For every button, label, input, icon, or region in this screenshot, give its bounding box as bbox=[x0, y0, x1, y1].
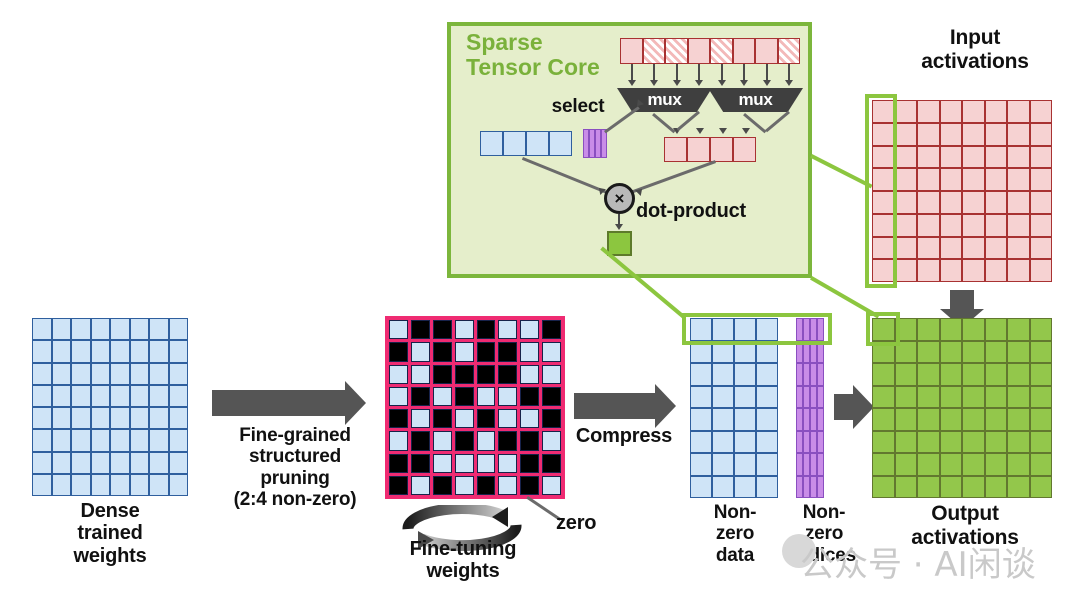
pruned-weight-cell bbox=[411, 476, 430, 495]
pruned-weight-cell bbox=[542, 431, 561, 450]
pruned-weight-cell bbox=[389, 431, 408, 450]
dense-weight-cell bbox=[169, 474, 189, 496]
pruned-zero-cell bbox=[520, 431, 539, 450]
pruned-zero-cell bbox=[542, 320, 561, 339]
pruned-zero-cell bbox=[411, 320, 430, 339]
output-activation-cell bbox=[985, 476, 1008, 499]
nonzero-index-cell bbox=[803, 386, 810, 409]
nonzero-data-cell bbox=[690, 476, 712, 499]
nonzero-index-cell bbox=[817, 453, 824, 476]
input-act-label-line-2: activations bbox=[880, 50, 1070, 74]
input-activation-cell bbox=[917, 100, 940, 123]
input-activation-cell bbox=[962, 123, 985, 146]
pruned-weight-cell bbox=[498, 320, 517, 339]
prune-label-line-4: (2:4 non-zero) bbox=[202, 489, 388, 510]
input-activation-cell bbox=[985, 191, 1008, 214]
stc-weight-cell bbox=[526, 131, 549, 156]
input-activation-cell bbox=[1007, 191, 1030, 214]
stc-activation-cell bbox=[688, 38, 711, 64]
output-activation-cell bbox=[985, 408, 1008, 431]
input-to-output-arrow bbox=[950, 290, 974, 310]
stc-activation-cell bbox=[643, 38, 666, 64]
nonzero-data-cell bbox=[756, 386, 778, 409]
mux-block-right: mux bbox=[708, 88, 803, 112]
dense-weight-cell bbox=[52, 363, 72, 385]
output-activation-cell bbox=[895, 386, 918, 409]
output-activation-cell bbox=[1030, 453, 1053, 476]
dense-weight-cell bbox=[130, 452, 150, 474]
compress-arrow bbox=[574, 393, 656, 419]
pruned-weight-cell bbox=[498, 387, 517, 406]
nonzero-data-cell bbox=[734, 453, 756, 476]
dense-weight-cell bbox=[71, 318, 91, 340]
output-activation-cell bbox=[1007, 318, 1030, 341]
compress-label: Compress bbox=[566, 425, 682, 447]
output-activation-cell bbox=[1007, 453, 1030, 476]
pruned-weight-cell bbox=[455, 476, 474, 495]
output-activation-cell bbox=[985, 318, 1008, 341]
output-activation-cell bbox=[985, 341, 1008, 364]
mux-out-arrow-icon bbox=[696, 128, 704, 134]
dense-weight-cell bbox=[71, 385, 91, 407]
output-act-label-line-1: Output bbox=[880, 502, 1050, 526]
dense-weight-cell bbox=[52, 318, 72, 340]
input-activation-cell bbox=[917, 168, 940, 191]
nonzero-data-cell bbox=[712, 386, 734, 409]
input-activation-cell bbox=[895, 237, 918, 260]
nonzero-data-cell bbox=[756, 363, 778, 386]
dense-weight-cell bbox=[52, 452, 72, 474]
input-activation-cell bbox=[940, 259, 963, 282]
dense-weight-cell bbox=[91, 474, 111, 496]
dense-weight-cell bbox=[149, 340, 169, 362]
stc-weight-cell bbox=[549, 131, 572, 156]
output-activation-cell bbox=[895, 431, 918, 454]
output-activation-cell bbox=[962, 431, 985, 454]
dense-weight-cell bbox=[110, 452, 130, 474]
nonzero-data-cell bbox=[690, 453, 712, 476]
connector-panel-to-input-activations bbox=[810, 154, 872, 188]
nonzero-index-cell bbox=[810, 408, 817, 431]
dense-weight-cell bbox=[169, 385, 189, 407]
input-activation-cell bbox=[1007, 123, 1030, 146]
dense-weight-cell bbox=[149, 452, 169, 474]
nonzero-index-cell bbox=[803, 408, 810, 431]
output-activation-cell bbox=[1007, 408, 1030, 431]
nonzero-index-cell bbox=[817, 386, 824, 409]
output-activation-cell-highlight bbox=[866, 312, 900, 346]
nonzero-index-cell bbox=[796, 453, 803, 476]
nzdata-label-line-3: data bbox=[690, 545, 780, 566]
stc-feed-arrow-icon bbox=[673, 80, 681, 86]
finetune-label-line-2: weights bbox=[388, 560, 538, 582]
mux-output-cell bbox=[733, 137, 756, 162]
dense-weights-matrix bbox=[32, 318, 188, 496]
dense-weight-cell bbox=[130, 407, 150, 429]
input-activation-cell bbox=[895, 168, 918, 191]
pruned-weight-cell bbox=[477, 431, 496, 450]
pruned-weight-cell bbox=[520, 320, 539, 339]
nonzero-indices-matrix bbox=[796, 318, 824, 498]
nonzero-index-cell bbox=[817, 431, 824, 454]
dense-weight-cell bbox=[110, 385, 130, 407]
mux-out-arrow-icon bbox=[719, 128, 727, 134]
input-activation-cell bbox=[895, 123, 918, 146]
pruned-weight-cell bbox=[411, 365, 430, 384]
mux-out-arrow-icon bbox=[742, 128, 750, 134]
output-activation-cell bbox=[917, 363, 940, 386]
pruned-weight-cell bbox=[455, 454, 474, 473]
mux-output-row bbox=[664, 137, 756, 162]
input-activation-cell bbox=[1030, 214, 1053, 237]
nonzero-index-cell bbox=[796, 363, 803, 386]
pruned-weight-cell bbox=[389, 365, 408, 384]
nonzero-index-cell bbox=[803, 453, 810, 476]
dense-weight-cell bbox=[32, 474, 52, 496]
nonzero-index-cell bbox=[810, 453, 817, 476]
pruned-weight-cell bbox=[455, 342, 474, 361]
output-activation-cell bbox=[1030, 408, 1053, 431]
dense-label-line-1: Dense bbox=[30, 500, 190, 522]
pruned-zero-cell bbox=[389, 342, 408, 361]
finetune-label-line-1: Fine-tuning bbox=[388, 538, 538, 560]
nonzero-data-cell bbox=[712, 453, 734, 476]
dense-weight-cell bbox=[149, 363, 169, 385]
fine-grained-pruning-arrow bbox=[212, 390, 346, 416]
nonzero-index-row bbox=[796, 408, 824, 431]
output-activation-cell bbox=[917, 318, 940, 341]
nonzero-data-cell bbox=[734, 363, 756, 386]
pruned-weight-cell bbox=[477, 387, 496, 406]
dense-weight-cell bbox=[91, 385, 111, 407]
dense-weight-cell bbox=[71, 363, 91, 385]
nzidx-label-line-1: Non- bbox=[778, 502, 870, 523]
dense-weight-cell bbox=[71, 452, 91, 474]
output-activation-cell bbox=[1007, 431, 1030, 454]
nonzero-data-cell bbox=[712, 431, 734, 454]
dense-weight-cell bbox=[52, 385, 72, 407]
input-activation-cell bbox=[985, 237, 1008, 260]
input-activation-cell bbox=[917, 259, 940, 282]
stc-title-line-2: Tensor Core bbox=[466, 55, 606, 80]
dot-product-label: dot-product bbox=[636, 200, 806, 222]
nonzero-data-cell bbox=[756, 408, 778, 431]
dense-weight-cell bbox=[32, 429, 52, 451]
dense-weight-cell bbox=[169, 340, 189, 362]
input-activation-cell bbox=[895, 259, 918, 282]
output-activation-cell bbox=[940, 453, 963, 476]
input-activation-cell bbox=[985, 123, 1008, 146]
input-activations-column-highlight bbox=[865, 94, 897, 288]
nonzero-index-row bbox=[796, 453, 824, 476]
output-activation-cell bbox=[940, 341, 963, 364]
input-activation-cell bbox=[985, 168, 1008, 191]
stc-feed-arrow-icon bbox=[695, 80, 703, 86]
nonzero-data-cell bbox=[756, 453, 778, 476]
nzdata-label-line-2: zero bbox=[690, 523, 780, 544]
nonzero-to-output-arrow bbox=[834, 394, 854, 420]
output-activation-cell bbox=[962, 408, 985, 431]
dense-weight-cell bbox=[91, 318, 111, 340]
dense-weight-cell bbox=[91, 452, 111, 474]
pruned-zero-cell bbox=[389, 476, 408, 495]
nonzero-index-cell bbox=[796, 386, 803, 409]
pruned-weight-cell bbox=[542, 342, 561, 361]
pruned-weight-cell bbox=[411, 409, 430, 428]
output-activation-cell bbox=[872, 431, 895, 454]
watermark-text: 公众号 · AI闲谈 bbox=[800, 537, 1036, 586]
nonzero-data-cell bbox=[690, 363, 712, 386]
pruned-zero-cell bbox=[411, 387, 430, 406]
nonzero-index-row bbox=[796, 476, 824, 499]
output-activation-cell bbox=[895, 408, 918, 431]
input-activation-cell bbox=[917, 214, 940, 237]
output-activation-cell bbox=[940, 363, 963, 386]
input-activation-cell bbox=[1030, 237, 1053, 260]
pruned-zero-cell bbox=[542, 387, 561, 406]
dense-weight-cell bbox=[169, 452, 189, 474]
pruned-weight-cell bbox=[498, 454, 517, 473]
pruned-zero-cell bbox=[433, 320, 452, 339]
output-activation-cell bbox=[962, 318, 985, 341]
dense-weight-cell bbox=[52, 340, 72, 362]
input-activation-cell bbox=[962, 146, 985, 169]
pruned-weight-cell bbox=[520, 409, 539, 428]
nonzero-data-cell bbox=[734, 386, 756, 409]
pruned-zero-cell bbox=[520, 454, 539, 473]
nonzero-data-cell bbox=[756, 431, 778, 454]
pruned-zero-cell bbox=[389, 409, 408, 428]
input-activation-cell bbox=[962, 100, 985, 123]
pruned-weight-cell bbox=[477, 454, 496, 473]
nzdata-label-line-1: Non- bbox=[690, 502, 780, 523]
output-activation-cell bbox=[1007, 363, 1030, 386]
dot-product-multiplier: × bbox=[604, 183, 635, 214]
stc-feed-arrow-icon bbox=[763, 80, 771, 86]
dot-to-output-arrow-icon bbox=[615, 224, 623, 230]
nonzero-index-cell bbox=[810, 363, 817, 386]
output-activation-cell bbox=[985, 453, 1008, 476]
input-activation-cell bbox=[940, 214, 963, 237]
dense-weight-cell bbox=[130, 363, 150, 385]
dense-weight-cell bbox=[71, 429, 91, 451]
input-activation-cell bbox=[1030, 123, 1053, 146]
output-activation-cell bbox=[985, 431, 1008, 454]
pruned-zero-cell bbox=[433, 409, 452, 428]
fine-tuning-label: Fine-tuning weights bbox=[388, 538, 538, 583]
nonzero-index-cell bbox=[803, 363, 810, 386]
pruned-weight-cell bbox=[520, 365, 539, 384]
input-activation-cell bbox=[985, 100, 1008, 123]
sparse-tensor-core-title: Sparse Tensor Core bbox=[466, 30, 606, 81]
dense-weight-cell bbox=[169, 363, 189, 385]
stc-select-index-block bbox=[583, 129, 607, 158]
output-activation-cell bbox=[985, 386, 1008, 409]
dense-weight-cell bbox=[32, 318, 52, 340]
mux-output-cell bbox=[687, 137, 710, 162]
input-activation-cell bbox=[917, 123, 940, 146]
stc-feed-arrow-icon bbox=[785, 80, 793, 86]
dense-weight-cell bbox=[52, 407, 72, 429]
nonzero-data-matrix bbox=[690, 318, 778, 498]
output-activation-cell bbox=[917, 431, 940, 454]
pruned-weight-cell bbox=[389, 320, 408, 339]
pruned-weights-matrix bbox=[385, 316, 565, 499]
dense-weight-cell bbox=[169, 407, 189, 429]
input-activation-cell bbox=[985, 214, 1008, 237]
dense-weight-cell bbox=[110, 474, 130, 496]
output-activation-cell bbox=[962, 341, 985, 364]
output-activation-cell bbox=[872, 476, 895, 499]
output-activation-cell bbox=[940, 476, 963, 499]
nonzero-index-cell bbox=[817, 363, 824, 386]
nonzero-data-cell bbox=[734, 408, 756, 431]
input-activation-cell bbox=[940, 237, 963, 260]
nonzero-row-highlight bbox=[682, 313, 832, 345]
output-activation-cell bbox=[1030, 431, 1053, 454]
pruned-zero-cell bbox=[411, 431, 430, 450]
output-activation-cell bbox=[872, 363, 895, 386]
input-activation-cell bbox=[1030, 168, 1053, 191]
dense-weights-label: Dense trained weights bbox=[30, 500, 190, 567]
nonzero-index-cell bbox=[817, 408, 824, 431]
nonzero-index-cell bbox=[796, 476, 803, 499]
stc-activation-cell bbox=[620, 38, 643, 64]
dense-weight-cell bbox=[149, 429, 169, 451]
input-activation-cell bbox=[940, 168, 963, 191]
mux-block-left: mux bbox=[617, 88, 712, 112]
input-activation-cell bbox=[1007, 259, 1030, 282]
input-activation-cell bbox=[1030, 100, 1053, 123]
pruned-weight-cell bbox=[455, 320, 474, 339]
pruned-weight-cell bbox=[433, 431, 452, 450]
input-activation-cell bbox=[1007, 214, 1030, 237]
nonzero-index-cell bbox=[796, 431, 803, 454]
input-activation-cell bbox=[917, 237, 940, 260]
nonzero-data-cell bbox=[690, 408, 712, 431]
output-activation-cell bbox=[917, 386, 940, 409]
stc-activation-cell bbox=[710, 38, 733, 64]
pruned-zero-cell bbox=[542, 409, 561, 428]
dense-weight-cell bbox=[110, 429, 130, 451]
output-activation-cell bbox=[962, 363, 985, 386]
input-activation-cell bbox=[895, 214, 918, 237]
input-activation-cell bbox=[940, 146, 963, 169]
dense-weight-cell bbox=[91, 429, 111, 451]
dense-weight-cell bbox=[130, 429, 150, 451]
dense-weight-cell bbox=[91, 340, 111, 362]
dense-weight-cell bbox=[91, 363, 111, 385]
pruned-zero-cell bbox=[433, 365, 452, 384]
output-activation-cell bbox=[895, 363, 918, 386]
output-activation-cell bbox=[895, 476, 918, 499]
pruned-zero-cell bbox=[455, 365, 474, 384]
nonzero-index-cell bbox=[803, 431, 810, 454]
dense-weight-cell bbox=[130, 340, 150, 362]
dense-weight-cell bbox=[169, 429, 189, 451]
prune-label-line-3: pruning bbox=[202, 468, 388, 489]
pruned-weight-cell bbox=[498, 476, 517, 495]
dense-weight-cell bbox=[32, 407, 52, 429]
input-activation-cell bbox=[1007, 237, 1030, 260]
pruned-weight-cell bbox=[542, 476, 561, 495]
dense-weight-cell bbox=[71, 474, 91, 496]
dense-weight-cell bbox=[110, 407, 130, 429]
output-activation-cell bbox=[940, 408, 963, 431]
pruned-zero-cell bbox=[498, 365, 517, 384]
zero-callout-label: zero bbox=[556, 512, 626, 534]
stc-activation-cell bbox=[778, 38, 801, 64]
output-activation-cell bbox=[940, 318, 963, 341]
stc-select-stripe bbox=[601, 129, 607, 158]
stc-feed-arrow-icon bbox=[650, 80, 658, 86]
stc-title-line-1: Sparse bbox=[466, 30, 606, 55]
output-activation-cell bbox=[1007, 341, 1030, 364]
nonzero-index-cell bbox=[810, 386, 817, 409]
input-activation-cell bbox=[895, 191, 918, 214]
dense-weight-cell bbox=[149, 385, 169, 407]
dense-weight-cell bbox=[71, 407, 91, 429]
dense-weight-cell bbox=[32, 385, 52, 407]
input-activation-cell bbox=[1030, 191, 1053, 214]
prune-label-line-1: Fine-grained bbox=[202, 425, 388, 446]
nonzero-data-cell bbox=[690, 431, 712, 454]
output-activation-cell bbox=[1030, 341, 1053, 364]
dense-weight-cell bbox=[52, 474, 72, 496]
pruned-zero-cell bbox=[433, 476, 452, 495]
pruned-weight-cell bbox=[542, 365, 561, 384]
dense-weight-cell bbox=[32, 340, 52, 362]
stc-feed-arrow-icon bbox=[740, 80, 748, 86]
input-activation-cell bbox=[962, 191, 985, 214]
dense-label-line-2: trained bbox=[30, 522, 190, 544]
input-activations-label: Input activations bbox=[880, 26, 1070, 73]
dense-weight-cell bbox=[149, 318, 169, 340]
pruned-zero-cell bbox=[542, 454, 561, 473]
output-activation-cell bbox=[1030, 318, 1053, 341]
pruned-zero-cell bbox=[498, 431, 517, 450]
stc-weight-cell bbox=[503, 131, 526, 156]
dense-weight-cell bbox=[149, 474, 169, 496]
output-activation-cell bbox=[962, 386, 985, 409]
input-activation-cell bbox=[962, 214, 985, 237]
stc-weight-row bbox=[480, 131, 572, 156]
pruned-weight-cell bbox=[520, 342, 539, 361]
dense-weight-cell bbox=[32, 363, 52, 385]
mux-output-cell bbox=[710, 137, 733, 162]
output-activation-cell bbox=[917, 341, 940, 364]
input-activation-cell bbox=[940, 191, 963, 214]
mux-output-cell bbox=[664, 137, 687, 162]
input-activation-cell bbox=[962, 168, 985, 191]
nonzero-data-cell bbox=[690, 386, 712, 409]
input-activation-cell bbox=[962, 259, 985, 282]
dense-weight-cell bbox=[130, 474, 150, 496]
pruned-zero-cell bbox=[477, 342, 496, 361]
stc-activation-row bbox=[620, 38, 800, 64]
output-activation-cell bbox=[872, 386, 895, 409]
dense-label-line-3: weights bbox=[30, 545, 190, 567]
output-activation-cell bbox=[872, 453, 895, 476]
output-activation-cell bbox=[917, 476, 940, 499]
pruned-zero-cell bbox=[433, 342, 452, 361]
output-activation-cell bbox=[1007, 476, 1030, 499]
pruned-weight-cell bbox=[498, 409, 517, 428]
output-activation-cell bbox=[917, 453, 940, 476]
output-activation-cell bbox=[962, 476, 985, 499]
pruned-weight-cell bbox=[411, 342, 430, 361]
prune-label-line-2: structured bbox=[202, 446, 388, 467]
